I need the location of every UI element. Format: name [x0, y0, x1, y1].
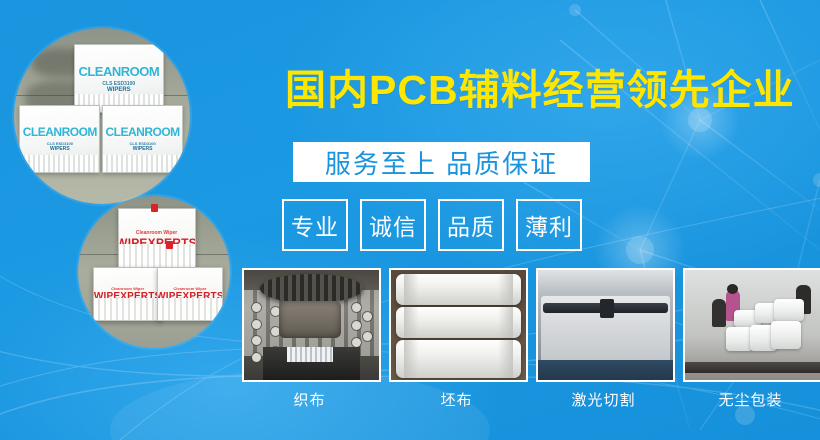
thumbnail-image-greige-fabric[interactable] — [389, 268, 528, 382]
pack-subtitle-2: WIPERS — [107, 87, 131, 93]
thumbnail-caption: 织布 — [242, 389, 377, 410]
thumbnail-caption: 坯布 — [389, 389, 524, 410]
product-photo-wipexperts: Cleanroom Wiper WIPEXPERTS Cleanroom Wip… — [78, 196, 230, 348]
banner-headline: 国内PCB辅料经营领先企业 — [285, 70, 785, 111]
pack-subtitle-2: WIPERS — [50, 146, 70, 152]
thumbnail-caption: 无尘包装 — [683, 389, 818, 410]
thumbnail-item[interactable]: 织布 — [242, 268, 377, 410]
feature-tag-list: 专业 诚信 品质 薄利 — [282, 199, 582, 251]
feature-tag-low-margin[interactable]: 薄利 — [516, 199, 582, 251]
pack-brand-label: CLEANROOM — [78, 64, 159, 79]
thumbnail-caption: 激光切割 — [536, 389, 671, 410]
pack-brand-label: CLEANROOM — [23, 125, 97, 139]
feature-tag-professional[interactable]: 专业 — [282, 199, 348, 251]
thumbnail-image-cleanroom-packing[interactable] — [683, 268, 820, 382]
product-photo-cleanroom: CLEANROOM CLS ESD3100 WIPERS CLEANROOM C… — [14, 28, 190, 204]
thumbnail-item[interactable]: 无尘包装 — [683, 268, 818, 410]
thumbnail-item[interactable]: 坯布 — [389, 268, 524, 410]
slogan-bar: 服务至上 品质保证 — [293, 142, 590, 182]
pack-brand-label: CLEANROOM — [106, 125, 180, 139]
thumbnail-image-weaving[interactable] — [242, 268, 381, 382]
pack-subtitle-2: WIPERS — [133, 146, 153, 152]
feature-tag-quality[interactable]: 品质 — [438, 199, 504, 251]
promo-banner: CLEANROOM CLS ESD3100 WIPERS CLEANROOM C… — [0, 0, 820, 440]
feature-tag-integrity[interactable]: 诚信 — [360, 199, 426, 251]
process-thumbnail-strip: 织布 坯布 激光切割 — [242, 268, 818, 410]
slogan-text: 服务至上 品质保证 — [325, 144, 558, 181]
thumbnail-image-laser-cutting[interactable] — [536, 268, 675, 382]
thumbnail-item[interactable]: 激光切割 — [536, 268, 671, 410]
